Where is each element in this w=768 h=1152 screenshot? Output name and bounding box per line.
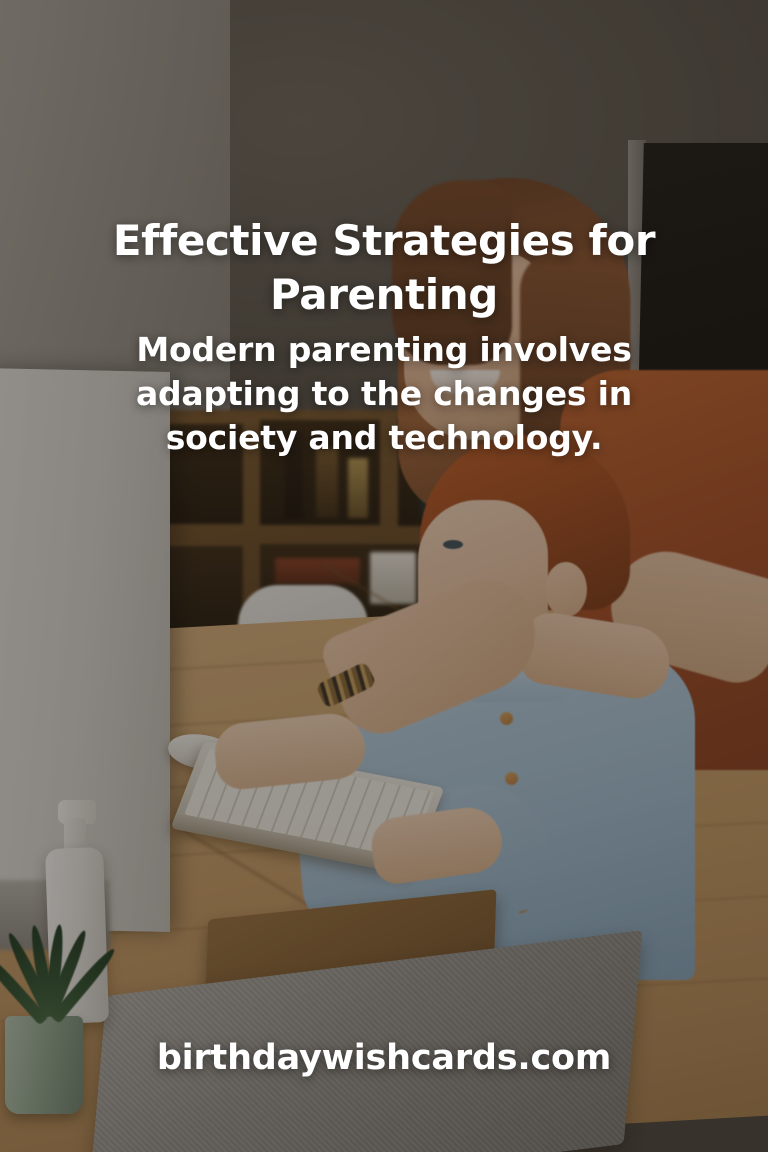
quote-card: Effective Strategies for Parenting Moder… xyxy=(0,0,768,1152)
subtitle-text: Modern parenting involves adapting to th… xyxy=(74,328,694,461)
site-watermark: birthdaywishcards.com xyxy=(0,1038,768,1078)
page-title: Effective Strategies for Parenting xyxy=(64,214,704,322)
text-layer: Effective Strategies for Parenting Moder… xyxy=(0,0,768,1152)
